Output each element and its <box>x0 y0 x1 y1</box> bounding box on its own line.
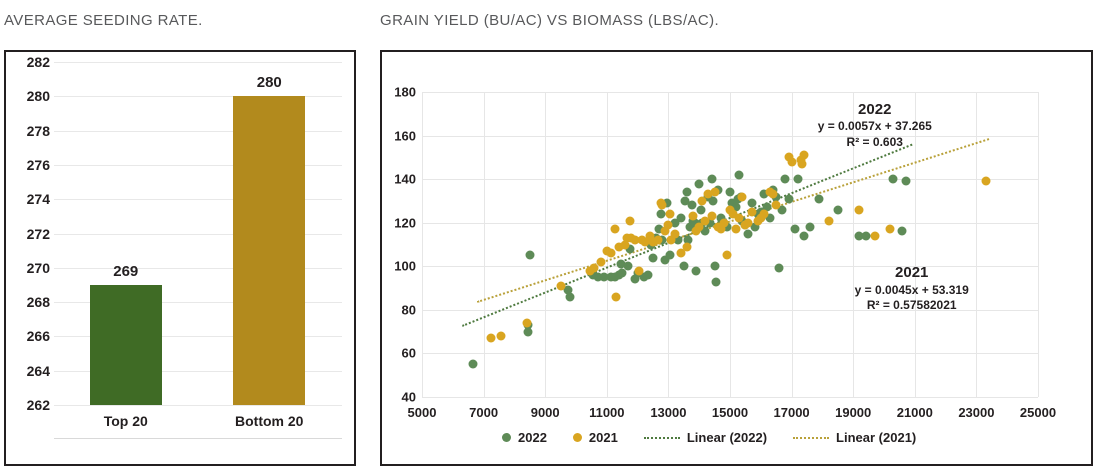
scatter-plot-area: 4060801001201401601805000700090001100013… <box>422 92 1038 397</box>
scatter-point-2022[interactable] <box>735 170 744 179</box>
scatter-point-2022[interactable] <box>815 194 824 203</box>
scatter-point-2021[interactable] <box>612 292 621 301</box>
bar-category-label: Bottom 20 <box>209 413 329 429</box>
scatter-point-2022[interactable] <box>781 175 790 184</box>
annotation-year: 2021 <box>855 264 969 283</box>
scatter-point-2021[interactable] <box>710 188 719 197</box>
scatter-point-2021[interactable] <box>670 229 679 238</box>
scatter-gridline-vertical <box>976 92 977 397</box>
scatter-point-2021[interactable] <box>653 236 662 245</box>
scatter-legend: 20222021Linear (2022)Linear (2021) <box>502 430 916 445</box>
scatter-x-axis-tick: 23000 <box>958 405 994 420</box>
scatter-point-2021[interactable] <box>682 242 691 251</box>
scatter-point-2022[interactable] <box>799 231 808 240</box>
scatter-point-2022[interactable] <box>775 264 784 273</box>
scatter-point-2022[interactable] <box>898 227 907 236</box>
scatter-y-axis-tick: 160 <box>382 128 416 143</box>
scatter-point-2021[interactable] <box>689 212 698 221</box>
scatter-y-axis-tick: 40 <box>382 390 416 405</box>
scatter-y-axis-tick: 140 <box>382 172 416 187</box>
bar-category-label: Top 20 <box>66 413 186 429</box>
scatter-point-2022[interactable] <box>656 210 665 219</box>
scatter-point-2021[interactable] <box>658 201 667 210</box>
bar-bottom-20[interactable] <box>233 96 305 405</box>
scatter-point-2021[interactable] <box>722 251 731 260</box>
scatter-gridline-vertical <box>730 92 731 397</box>
scatter-point-2022[interactable] <box>806 223 815 232</box>
legend-dot-icon <box>502 433 511 442</box>
scatter-gridline-vertical <box>607 92 608 397</box>
bar-y-axis-tick: 276 <box>12 157 50 173</box>
scatter-gridline-vertical <box>668 92 669 397</box>
scatter-y-axis-tick: 120 <box>382 215 416 230</box>
scatter-x-axis-tick: 11000 <box>589 405 624 420</box>
bar-y-axis-tick: 274 <box>12 191 50 207</box>
scatter-y-axis-tick: 60 <box>382 346 416 361</box>
scatter-point-2022[interactable] <box>889 175 898 184</box>
scatter-point-2021[interactable] <box>747 207 756 216</box>
scatter-point-2021[interactable] <box>635 266 644 275</box>
legend-label: Linear (2022) <box>687 430 767 445</box>
scatter-gridline-vertical <box>1038 92 1039 397</box>
bar-y-axis-tick: 264 <box>12 363 50 379</box>
scatter-point-2021[interactable] <box>769 190 778 199</box>
scatter-point-2021[interactable] <box>732 225 741 234</box>
scatter-point-2021[interactable] <box>799 151 808 160</box>
scatter-point-2021[interactable] <box>556 281 565 290</box>
scatter-point-2021[interactable] <box>664 220 673 229</box>
legend-label: 2021 <box>589 430 618 445</box>
scatter-y-axis-tick: 180 <box>382 85 416 100</box>
scatter-gridline-vertical <box>792 92 793 397</box>
scatter-x-axis-tick: 25000 <box>1020 405 1056 420</box>
scatter-x-axis-tick: 19000 <box>835 405 871 420</box>
bar-y-axis-tick: 266 <box>12 328 50 344</box>
legend-label: 2022 <box>518 430 547 445</box>
scatter-x-axis-tick: 9000 <box>531 405 560 420</box>
scatter-point-2022[interactable] <box>682 188 691 197</box>
scatter-x-axis-tick: 5000 <box>408 405 437 420</box>
scatter-point-2022[interactable] <box>707 175 716 184</box>
scatter-point-2021[interactable] <box>787 157 796 166</box>
scatter-point-2022[interactable] <box>624 262 633 271</box>
bar-value-label: 269 <box>86 263 166 280</box>
bar-baseline <box>54 438 342 439</box>
bar-y-axis-tick: 268 <box>12 294 50 310</box>
annotation-r-squared: R² = 0.603 <box>818 135 932 151</box>
scatter-point-2022[interactable] <box>679 262 688 271</box>
scatter-point-2021[interactable] <box>798 159 807 168</box>
scatter-point-2021[interactable] <box>772 201 781 210</box>
legend-item-linear-2021[interactable]: Linear (2021) <box>793 430 916 445</box>
legend-dot-icon <box>573 433 582 442</box>
scatter-point-2022[interactable] <box>687 201 696 210</box>
scatter-point-2022[interactable] <box>710 262 719 271</box>
scatter-point-2021[interactable] <box>607 249 616 258</box>
scatter-point-2022[interactable] <box>692 266 701 275</box>
annotation-year: 2022 <box>818 101 932 120</box>
annotation-2022: 2022y = 0.0057x + 37.265R² = 0.603 <box>818 101 932 151</box>
scatter-point-2021[interactable] <box>886 225 895 234</box>
scatter-point-2021[interactable] <box>744 218 753 227</box>
scatter-point-2022[interactable] <box>833 205 842 214</box>
scatter-gridline-vertical <box>484 92 485 397</box>
scatter-x-axis-tick: 21000 <box>897 405 933 420</box>
scatter-point-2021[interactable] <box>759 210 768 219</box>
scatter-point-2022[interactable] <box>712 277 721 286</box>
scatter-x-axis-tick: 7000 <box>469 405 498 420</box>
scatter-point-2021[interactable] <box>738 192 747 201</box>
scatter-point-2021[interactable] <box>981 177 990 186</box>
scatter-point-2022[interactable] <box>695 179 704 188</box>
bar-y-axis-tick: 272 <box>12 226 50 242</box>
scatter-gridline-vertical <box>545 92 546 397</box>
annotation-equation: y = 0.0057x + 37.265 <box>818 119 932 135</box>
bar-gridline <box>54 62 342 63</box>
dashboard-page: AVERAGE SEEDING RATE. GRAIN YIELD (BU/AC… <box>0 0 1097 472</box>
scatter-x-axis-tick: 17000 <box>774 405 810 420</box>
scatter-point-2021[interactable] <box>610 225 619 234</box>
bar-value-label: 280 <box>229 74 309 91</box>
scatter-point-2022[interactable] <box>861 231 870 240</box>
scatter-point-2021[interactable] <box>487 334 496 343</box>
average-seeding-rate-title: AVERAGE SEEDING RATE. <box>4 12 203 29</box>
scatter-point-2021[interactable] <box>719 218 728 227</box>
scatter-chart-panel: 4060801001201401601805000700090001100013… <box>380 50 1093 466</box>
legend-item-linear-2022[interactable]: Linear (2022) <box>644 430 767 445</box>
scatter-point-2022[interactable] <box>676 214 685 223</box>
grain-yield-vs-biomass-title: GRAIN YIELD (BU/AC) VS BIOMASS (LBS/AC). <box>380 12 719 29</box>
scatter-point-2021[interactable] <box>707 212 716 221</box>
scatter-x-axis-tick: 15000 <box>712 405 748 420</box>
scatter-point-2021[interactable] <box>522 318 531 327</box>
scatter-point-2022[interactable] <box>696 205 705 214</box>
annotation-r-squared: R² = 0.57582021 <box>855 298 969 314</box>
bar-y-axis-tick: 270 <box>12 260 50 276</box>
scatter-point-2022[interactable] <box>644 271 653 280</box>
scatter-point-2021[interactable] <box>870 231 879 240</box>
bar-chart-plot-area: 262264266268270272274276278280282269Top … <box>6 52 354 464</box>
scatter-point-2021[interactable] <box>855 205 864 214</box>
scatter-point-2021[interactable] <box>625 216 634 225</box>
scatter-point-2022[interactable] <box>784 194 793 203</box>
scatter-point-2022[interactable] <box>468 360 477 369</box>
scatter-point-2021[interactable] <box>596 257 605 266</box>
scatter-gridline-horizontal <box>422 397 1038 398</box>
scatter-point-2022[interactable] <box>524 327 533 336</box>
scatter-point-2022[interactable] <box>901 177 910 186</box>
legend-item-2021[interactable]: 2021 <box>573 430 618 445</box>
bar-chart-panel: 262264266268270272274276278280282269Top … <box>4 50 356 466</box>
bar-y-axis-tick: 280 <box>12 88 50 104</box>
bar-y-axis-tick: 262 <box>12 397 50 413</box>
scatter-point-2022[interactable] <box>665 251 674 260</box>
legend-label: Linear (2021) <box>836 430 916 445</box>
scatter-point-2022[interactable] <box>747 199 756 208</box>
legend-dotted-line-icon <box>793 437 829 439</box>
scatter-point-2021[interactable] <box>665 210 674 219</box>
scatter-point-2022[interactable] <box>649 253 658 262</box>
scatter-point-2022[interactable] <box>793 175 802 184</box>
scatter-point-2022[interactable] <box>525 251 534 260</box>
scatter-point-2021[interactable] <box>824 216 833 225</box>
legend-dotted-line-icon <box>644 437 680 439</box>
bar-y-axis-tick: 282 <box>12 54 50 70</box>
scatter-point-2022[interactable] <box>790 225 799 234</box>
legend-item-2022[interactable]: 2022 <box>502 430 547 445</box>
scatter-point-2021[interactable] <box>496 332 505 341</box>
scatter-y-axis-tick: 100 <box>382 259 416 274</box>
annotation-2021: 2021y = 0.0045x + 53.319R² = 0.57582021 <box>855 264 969 314</box>
bar-gridline <box>54 405 342 406</box>
scatter-y-axis-tick: 80 <box>382 302 416 317</box>
scatter-x-axis-tick: 13000 <box>650 405 686 420</box>
annotation-equation: y = 0.0045x + 53.319 <box>855 283 969 299</box>
bar-top-20[interactable] <box>90 285 162 405</box>
scatter-gridline-vertical <box>422 92 423 397</box>
bar-y-axis-tick: 278 <box>12 123 50 139</box>
scatter-point-2022[interactable] <box>565 292 574 301</box>
